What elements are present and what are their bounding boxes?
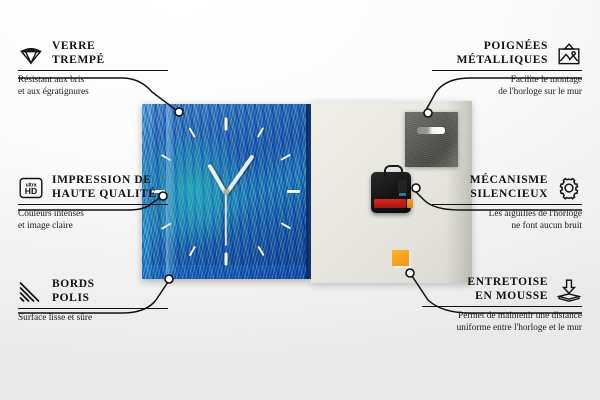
callout-desc-line1: Surface lisse et sûre	[18, 313, 92, 323]
callout-title-line1: VERRE	[52, 40, 95, 52]
callout-title-line1: BORDS	[52, 278, 95, 290]
callout-desc-line1: Couleurs intenses	[18, 209, 84, 219]
callout-title-line2: POLIS	[52, 292, 90, 304]
callout-title-line1: POIGNÉES	[484, 40, 548, 52]
hanging-picture-icon	[556, 42, 582, 66]
ultra-hd-icon: ultra HD	[18, 176, 44, 200]
callout-bords-polis: BORDS POLIS Surface lisse et sûre	[18, 278, 168, 325]
callout-desc-line1: Facilite le montage	[511, 75, 582, 85]
callout-rule	[18, 204, 168, 205]
callout-desc-line2: et aux égratignures	[18, 87, 89, 97]
callout-rule	[422, 306, 582, 307]
callout-rule	[432, 204, 582, 205]
callout-desc-line1: Les aiguilles de l'horloge	[489, 209, 582, 219]
callout-rule	[432, 70, 582, 71]
callout-poignees-metalliques: POIGNÉES MÉTALLIQUES Facilite le montage…	[432, 40, 582, 98]
callout-desc-line2: ne font aucun bruit	[512, 221, 582, 231]
callout-title-line2: TREMPÉ	[52, 54, 105, 66]
callout-entretoise-en-mousse: ENTRETOISE EN MOUSSE Permet de maintenir…	[422, 276, 582, 334]
callout-title-line2: MÉTALLIQUES	[457, 54, 548, 66]
infographic-canvas: VERRE TREMPÉ Résistant aux bris et aux é…	[0, 0, 600, 400]
callout-verre-trempe: VERRE TREMPÉ Résistant aux bris et aux é…	[18, 40, 168, 98]
callout-title-line2: EN MOUSSE	[475, 290, 548, 302]
gear-icon	[556, 176, 582, 200]
callout-title-line1: ENTRETOISE	[467, 276, 548, 288]
callout-desc-line2: uniforme entre l'horloge et le mur	[457, 323, 582, 333]
diamond-icon	[18, 42, 44, 66]
arrow-down-pad-icon	[556, 278, 582, 302]
callout-title-line2: HAUTE QUALITÉ	[52, 188, 157, 200]
callout-rule	[18, 70, 168, 71]
callout-desc-line1: Résistant aux bris	[18, 75, 84, 85]
callout-rule	[18, 308, 168, 309]
callout-title-line1: MÉCANISME	[470, 174, 548, 186]
callout-impression-haute-qualite: ultra HD IMPRESSION DE HAUTE QUALITÉ Cou…	[18, 174, 168, 232]
callout-desc-line2: de l'horloge sur le mur	[498, 87, 582, 97]
diagonal-stripes-icon	[18, 280, 44, 304]
callout-desc-line2: et image claire	[18, 221, 73, 231]
callout-desc-line1: Permet de maintenir une distance	[458, 311, 582, 321]
callout-title-line1: IMPRESSION DE	[52, 174, 152, 186]
callout-title-line2: SILENCIEUX	[470, 188, 548, 200]
ultra-hd-bottom-label: HD	[25, 186, 37, 196]
callout-mecanisme-silencieux: MÉCANISME SILENCIEUX Les aiguilles de l'…	[432, 174, 582, 232]
